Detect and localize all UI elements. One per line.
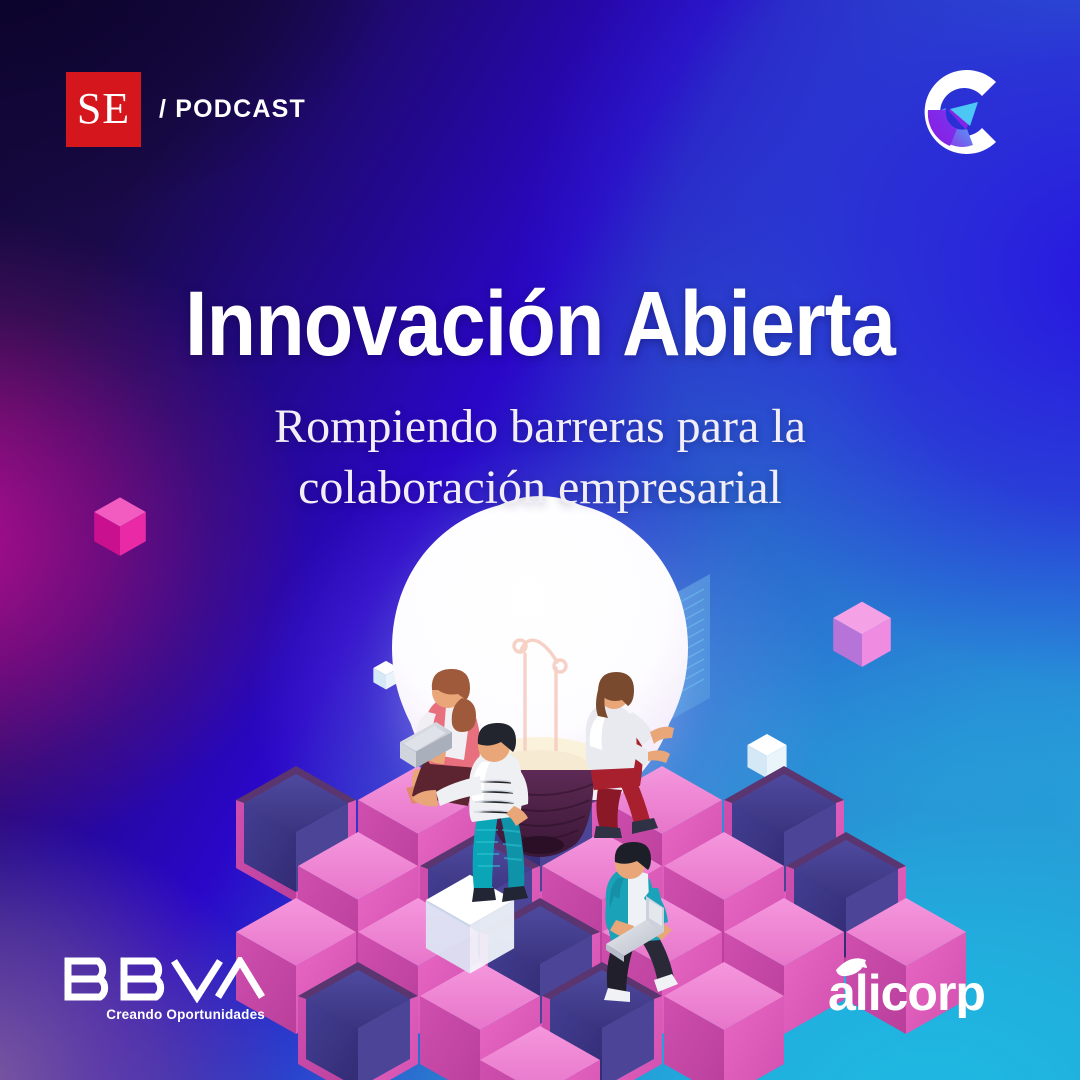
subtitle: Rompiendo barreras para la colaboración … — [160, 396, 920, 519]
brand-header: SE / PODCAST — [66, 72, 306, 147]
bbva-logo: Creando Oportunidades — [62, 957, 267, 1022]
podcast-label: / PODCAST — [159, 95, 306, 124]
subtitle-line-2: colaboración empresarial — [160, 457, 920, 518]
bbva-wordmark — [62, 957, 267, 1003]
floating-cube-pink-right — [833, 602, 891, 667]
title-block: Innovación Abierta Rompiendo barreras pa… — [0, 278, 1080, 519]
page-title: Innovación Abierta — [65, 278, 1015, 370]
bbva-tagline: Creando Oportunidades — [62, 1007, 267, 1022]
subtitle-line-1: Rompiendo barreras para la — [160, 396, 920, 457]
c-refresh-logo — [902, 52, 1022, 172]
podcast-cover-poster: SE / PODCAST Innovación Abierta Rompiend… — [0, 0, 1080, 1080]
se-logo: SE — [66, 72, 141, 147]
se-logo-text: SE — [77, 87, 130, 131]
alicorp-wordmark: alicorp — [828, 965, 985, 1018]
alicorp-logo: alicorp — [828, 956, 1018, 1018]
